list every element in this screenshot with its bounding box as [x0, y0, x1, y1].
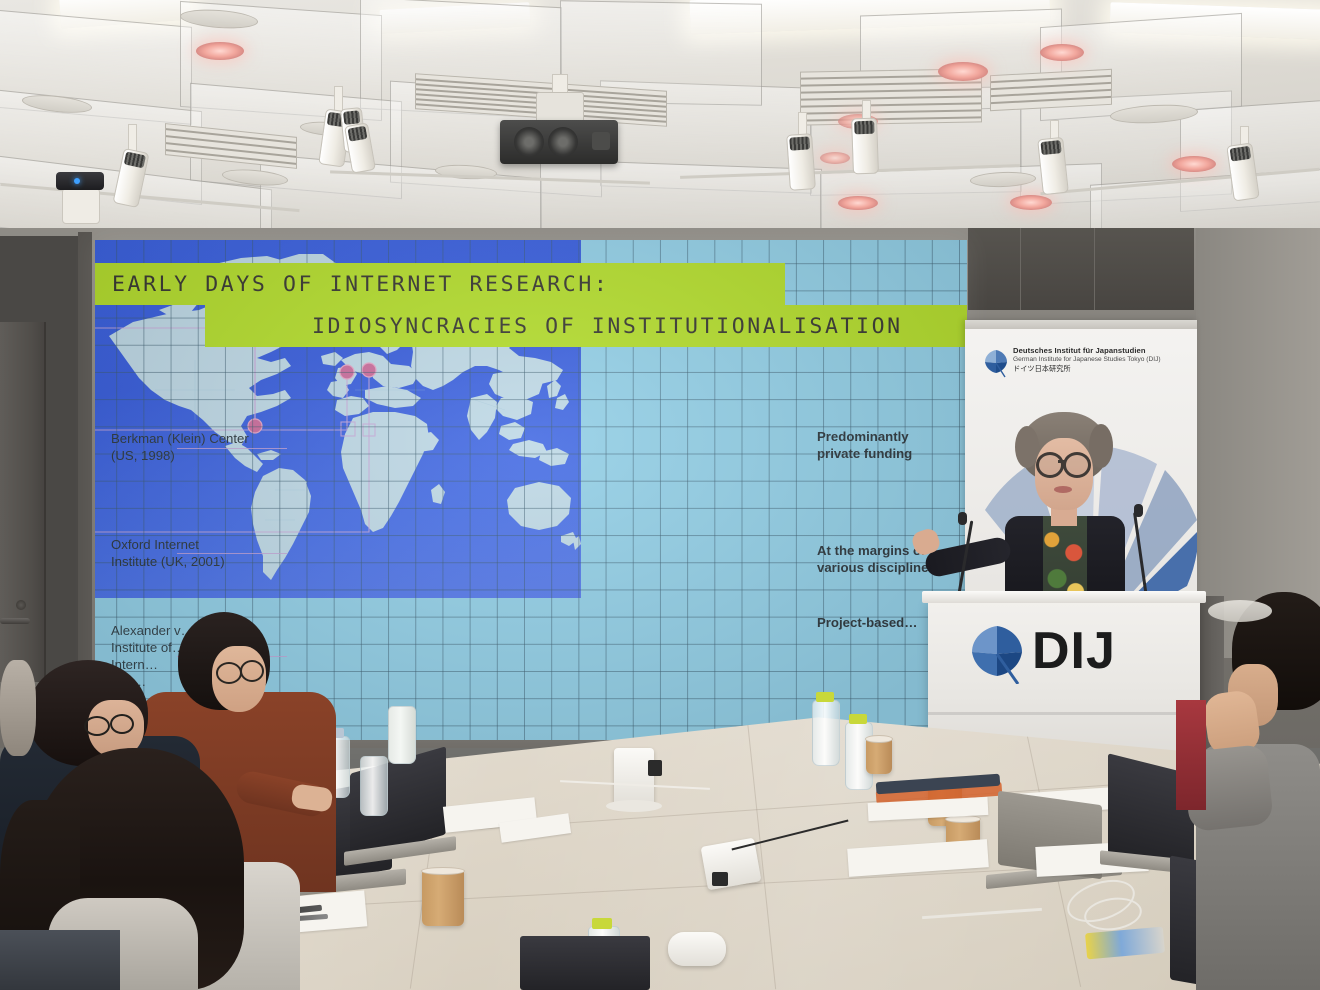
audience-glasses-rust	[240, 660, 264, 682]
adapter-prong	[712, 872, 728, 886]
power-outlet-base	[606, 800, 662, 812]
ceiling-downlight	[820, 152, 850, 164]
ceiling-downlight	[1010, 195, 1052, 210]
speaker-glasses-left-lens	[1036, 452, 1064, 478]
bottle-cap	[592, 918, 612, 929]
speaker-person	[985, 412, 1145, 612]
audience-head-far-left	[0, 660, 36, 756]
podium-seam	[928, 712, 1200, 715]
ceiling-downlight	[1172, 156, 1216, 172]
coffee-cup[interactable]	[866, 738, 892, 774]
microphone-head-left	[958, 512, 967, 525]
banner-line-en: German Institute for Japanese Studies To…	[1013, 356, 1189, 363]
slide-title-line2-bar: IDIOSYNCRACIES OF INSTITUTIONALISATION	[205, 305, 967, 347]
right-wall	[1196, 228, 1320, 658]
banner-line-jp: ドイツ日本研究所	[1013, 364, 1189, 374]
ceiling-downlight	[196, 42, 244, 60]
speaker-mouth	[1054, 486, 1072, 493]
bottle-cap	[816, 692, 834, 702]
coffee-cup[interactable]	[422, 870, 464, 926]
ceiling-projector	[500, 120, 618, 164]
wall-strip	[78, 232, 92, 682]
audience-glasses-navy	[110, 714, 134, 734]
ceiling-downlight	[838, 196, 878, 210]
slide-title-line2: IDIOSYNCRACIES OF INSTITUTIONALISATION	[312, 314, 967, 339]
audience-red-top	[1176, 700, 1206, 810]
speaker-glasses-right-lens	[1063, 452, 1091, 478]
microphone-head-right	[1134, 504, 1143, 517]
audience-glasses-navy	[84, 716, 110, 736]
slide-label-oxford: Oxford Internet Institute (UK, 2001)	[111, 536, 281, 570]
ceiling	[0, 0, 1320, 232]
water-bottle[interactable]	[812, 700, 840, 766]
dij-ginkgo-logo-icon	[983, 348, 1009, 378]
presentation-room-photo: EARLY DAYS OF INTERNET RESEARCH: IDIOSYN…	[0, 0, 1320, 990]
water-bottle[interactable]	[388, 706, 416, 764]
wall-speaker-mount	[62, 188, 100, 224]
room-door[interactable]	[0, 322, 46, 682]
banner-line-de: Deutsches Institut für Japanstudien	[1013, 346, 1189, 355]
ceiling-sensor	[56, 172, 104, 190]
slide-title-line1: EARLY DAYS OF INTERNET RESEARCH:	[112, 272, 785, 297]
ceiling-downlight	[1040, 44, 1084, 61]
banner-text-block: Deutsches Institut für Japanstudien Germ…	[1013, 346, 1189, 374]
slide-label-berkman: Berkman (Klein) Center (US, 1998)	[111, 430, 281, 464]
podium-label: DIJ	[1032, 622, 1116, 680]
power-outlet-tower[interactable]	[614, 748, 654, 806]
slide-label-private-funding: Predominantly private funding	[817, 428, 977, 462]
slide-title-line1-bar: EARLY DAYS OF INTERNET RESEARCH:	[95, 263, 785, 305]
audience-glasses-rust	[216, 662, 242, 684]
banner-top-rail	[965, 320, 1197, 329]
power-adapter[interactable]	[701, 838, 762, 891]
water-bottle[interactable]	[360, 756, 388, 816]
hvac-vent	[990, 69, 1112, 111]
ceiling-downlight	[938, 62, 988, 81]
dij-ginkgo-logo-icon	[966, 622, 1028, 684]
door-handle[interactable]	[0, 618, 30, 624]
lamp-shade	[1208, 600, 1272, 622]
power-plug	[648, 760, 662, 776]
bottle-cap	[849, 714, 867, 724]
podium-top-edge	[922, 591, 1206, 603]
speaker-glasses-bridge	[1058, 460, 1065, 463]
power-outlet-tower[interactable]	[668, 932, 726, 966]
audience-shoulder-dark	[0, 930, 120, 990]
door-lock-icon	[16, 600, 26, 610]
wall-recess-panel	[968, 228, 1194, 310]
